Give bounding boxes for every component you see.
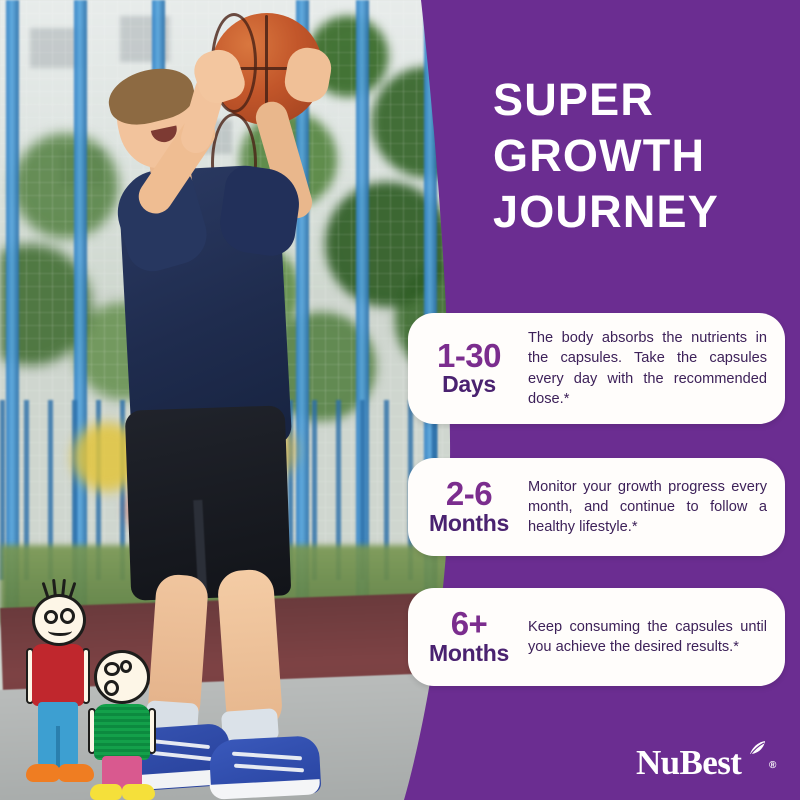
boy-right-leg xyxy=(216,568,283,732)
headline-line-3: JOURNEY xyxy=(493,184,793,240)
short-cartoon-kid xyxy=(90,648,156,790)
step-2-period-unit: Months xyxy=(412,511,526,537)
step-1-period: 1-30 Days xyxy=(408,339,526,398)
step-3-period-main: 6+ xyxy=(412,607,526,641)
step-card-1: 1-30 Days The body absorbs the nutrients… xyxy=(408,313,785,424)
step-card-2: 2-6 Months Monitor your growth progress … xyxy=(408,458,785,556)
short-kid-head xyxy=(94,650,150,704)
step-2-period: 2-6 Months xyxy=(408,477,526,536)
step-card-3: 6+ Months Keep consuming the capsules un… xyxy=(408,588,785,686)
step-1-description: The body absorbs the nutrients in the ca… xyxy=(526,328,785,409)
tall-cartoon-kid xyxy=(24,586,96,790)
step-1-period-unit: Days xyxy=(412,372,526,398)
step-2-period-main: 2-6 xyxy=(412,477,526,511)
leaf-icon xyxy=(749,741,766,756)
poster-root: SUPER GROWTH JOURNEY 1-30 Days The body … xyxy=(0,0,800,800)
nubest-logo: NuBest ® xyxy=(636,742,786,784)
cartoon-mascots xyxy=(14,586,164,800)
step-3-period-unit: Months xyxy=(412,641,526,667)
registered-mark: ® xyxy=(769,760,776,771)
page-title: SUPER GROWTH JOURNEY xyxy=(493,72,793,239)
step-2-description: Monitor your growth progress every month… xyxy=(526,477,785,537)
boy-shorts xyxy=(125,405,292,600)
headline-line-1: SUPER xyxy=(493,72,793,128)
headline-line-2: GROWTH xyxy=(493,128,793,184)
logo-wordmark: NuBest xyxy=(636,743,741,782)
tall-kid-head xyxy=(32,594,86,646)
step-3-description: Keep consuming the capsules until you ac… xyxy=(526,617,785,657)
step-1-period-main: 1-30 xyxy=(412,339,526,373)
step-3-period: 6+ Months xyxy=(408,607,526,666)
